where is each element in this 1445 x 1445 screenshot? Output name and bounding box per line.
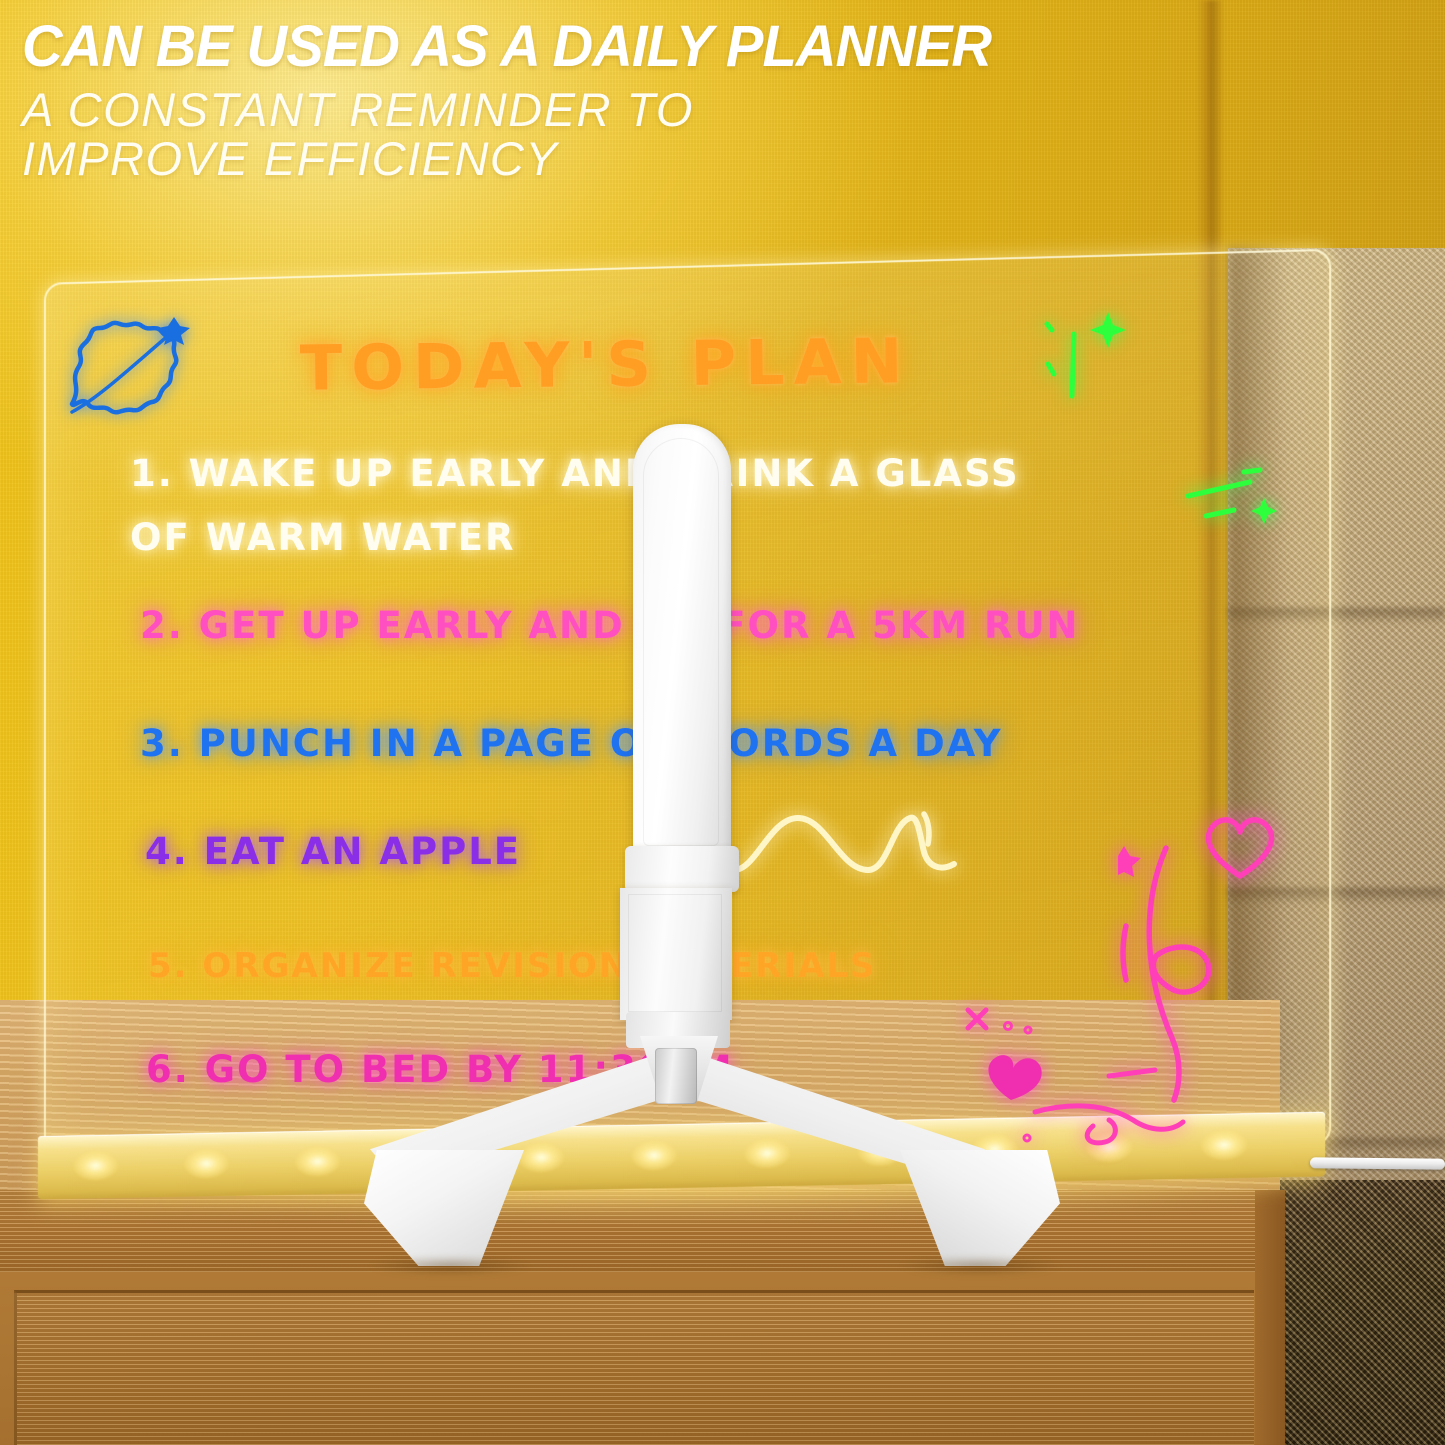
- foot-shadow-left: [370, 1256, 530, 1276]
- led-dot: [631, 1140, 677, 1171]
- product-scene: TODAY'S PLAN 1. WAKE UP EARLY AND DRINK …: [0, 0, 1445, 1445]
- led-dot: [519, 1142, 565, 1173]
- led-dot: [73, 1150, 118, 1181]
- headline-subtitle: A CONSTANT REMINDER TO IMPROVE EFFICIENC…: [22, 86, 1423, 184]
- plan-item-1-line-1: 1. WAKE UP EARLY AND DRINK A GLASS: [130, 452, 1020, 495]
- led-dot: [184, 1148, 229, 1179]
- foot-shadow-right: [900, 1256, 1060, 1276]
- plan-item-1-line-2: OF WARM WATER: [130, 516, 516, 559]
- plan-item-3: 3. PUNCH IN A PAGE OF WORDS A DAY: [140, 722, 1003, 765]
- stand-hinge-upper: [625, 846, 739, 892]
- led-dot-row: [38, 1126, 1325, 1186]
- plan-item-5: 5. ORGANIZE REVISION MATERIALS: [148, 946, 876, 986]
- board-title: TODAY'S PLAN: [300, 324, 912, 404]
- led-dot: [744, 1138, 790, 1169]
- marketing-headline-block: CAN BE USED AS A DAILY PLANNER A CONSTAN…: [0, 0, 1445, 184]
- led-dot: [295, 1146, 340, 1177]
- stand-mid-panel: [620, 888, 732, 1020]
- tripod-screw: [655, 1048, 697, 1104]
- stand-back-panel: [633, 424, 731, 856]
- headline-title: CAN BE USED AS A DAILY PLANNER: [22, 18, 1381, 76]
- headline-subtitle-line-1: A CONSTANT REMINDER TO: [22, 86, 1423, 135]
- headline-subtitle-line-2: IMPROVE EFFICIENCY: [22, 135, 1423, 184]
- led-dot: [1086, 1131, 1133, 1162]
- plan-item-2: 2. GET UP EARLY AND GO FOR A 5KM RUN: [140, 604, 1080, 647]
- power-cable: [1310, 1157, 1445, 1169]
- led-dot: [1201, 1129, 1248, 1160]
- plan-item-4: 4. EAT AN APPLE: [145, 830, 521, 873]
